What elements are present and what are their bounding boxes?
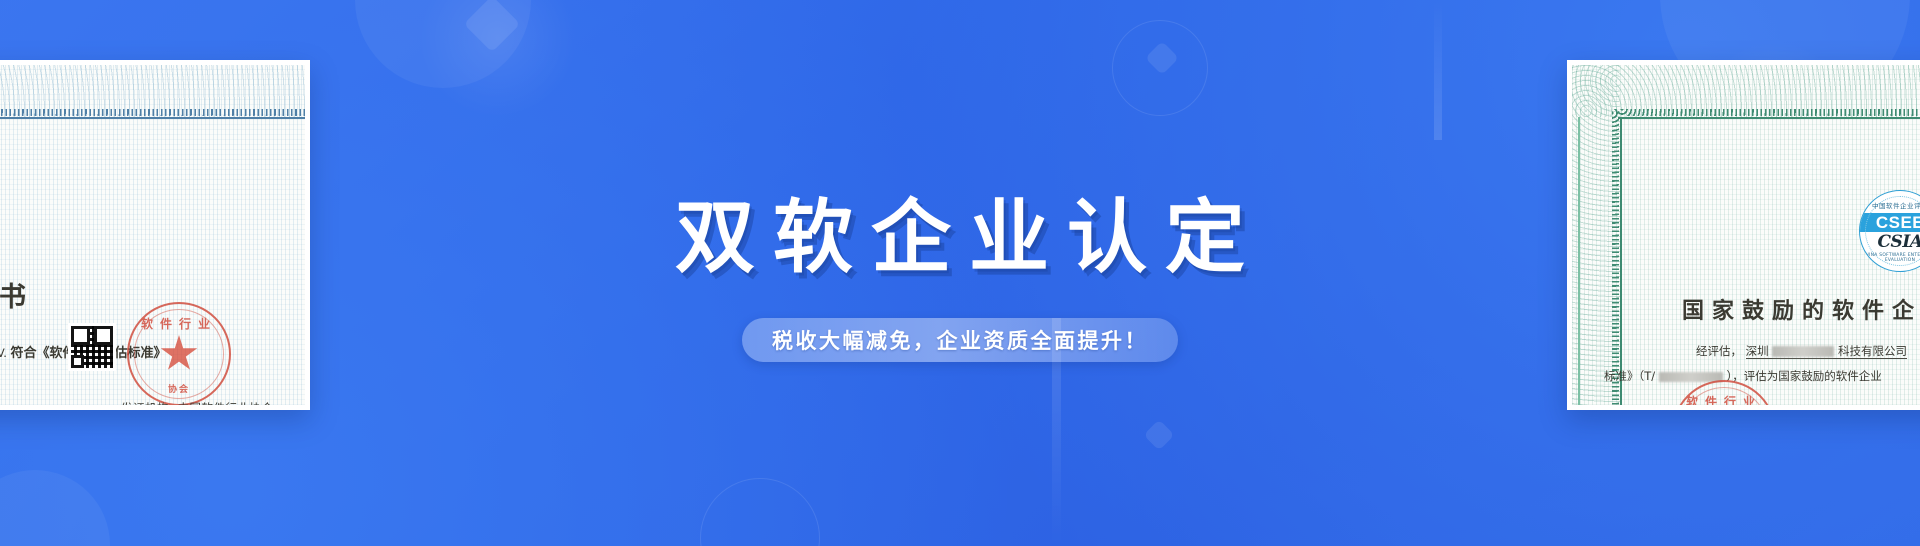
banner-root: 中国软件企业评估 CSEE CSIA CHINA SOFTWARE ENTERP… [0,0,1920,546]
banner-center-content: 双软企业认定 税收大幅减免，企业资质全面提升！ [0,0,1920,546]
subtitle-badge: 税收大幅减免，企业资质全面提升！ [742,318,1178,362]
subtitle-text: 税收大幅减免，企业资质全面提升！ [772,325,1148,355]
page-title: 双软企业认定 [657,198,1263,278]
